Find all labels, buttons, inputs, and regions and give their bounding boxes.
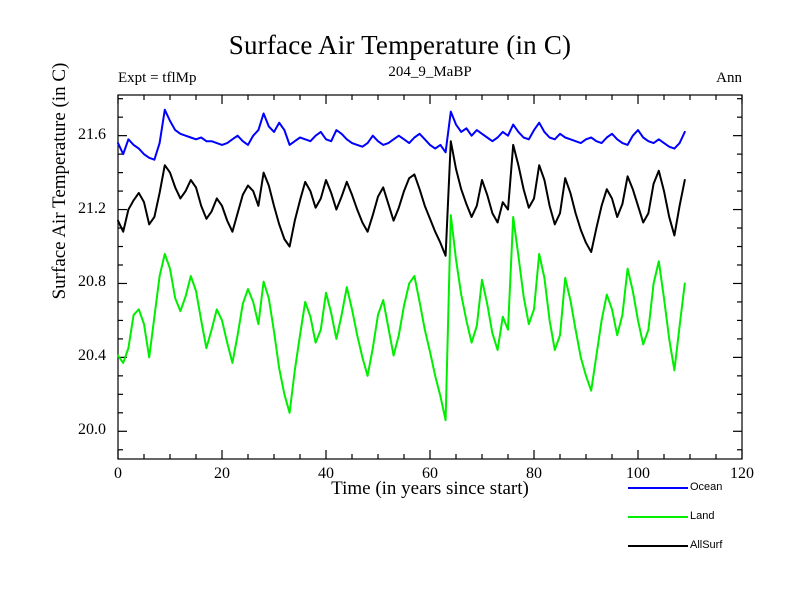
chart-legend: OceanLandAllSurf [628, 480, 798, 560]
x-tick-label: 80 [504, 465, 564, 483]
legend-item-ocean: Ocean [628, 480, 798, 496]
x-tick-label: 40 [296, 465, 356, 483]
y-tick-label: 20.8 [46, 273, 106, 291]
legend-label: AllSurf [690, 538, 722, 553]
y-tick-label: 20.0 [46, 421, 106, 439]
x-tick-label: 60 [400, 465, 460, 483]
legend-item-allsurf: AllSurf [628, 538, 798, 554]
series-line-land [118, 215, 685, 420]
series-line-ocean [118, 110, 685, 160]
legend-swatch [628, 487, 688, 489]
legend-label: Land [690, 509, 714, 524]
legend-item-land: Land [628, 509, 798, 525]
x-tick-label: 20 [192, 465, 252, 483]
series-line-allsurf [118, 141, 685, 256]
plot-frame [118, 95, 742, 459]
legend-swatch [628, 516, 688, 518]
y-tick-label: 20.4 [46, 347, 106, 365]
legend-swatch [628, 545, 688, 547]
y-tick-label: 21.2 [46, 200, 106, 218]
x-tick-label: 0 [88, 465, 148, 483]
chart-figure: Surface Air Temperature (in C) Expt = tf… [0, 0, 800, 600]
legend-label: Ocean [690, 480, 722, 495]
y-tick-label: 21.6 [46, 126, 106, 144]
